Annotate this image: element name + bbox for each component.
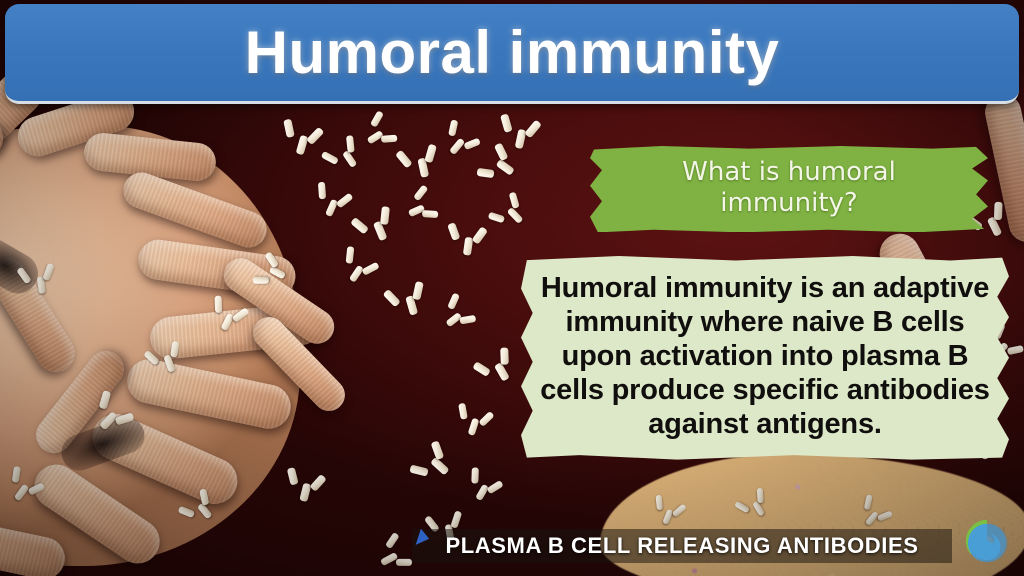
image-caption: PLASMA B CELL RELEASING ANTIBODIES: [412, 529, 952, 563]
definition-text: Humoral immunity is an adaptive immunity…: [535, 272, 995, 442]
page-title: Humoral immunity: [245, 18, 780, 87]
question-callout: What is humoral immunity?: [590, 146, 988, 232]
infographic-canvas: Humoral immunity What is humoral immunit…: [0, 0, 1024, 576]
question-text: What is humoral immunity?: [610, 157, 968, 218]
biology-online-logo-icon[interactable]: [964, 518, 1010, 564]
title-banner: Humoral immunity: [5, 4, 1019, 104]
definition-card: Humoral immunity is an adaptive immunity…: [521, 256, 1009, 460]
